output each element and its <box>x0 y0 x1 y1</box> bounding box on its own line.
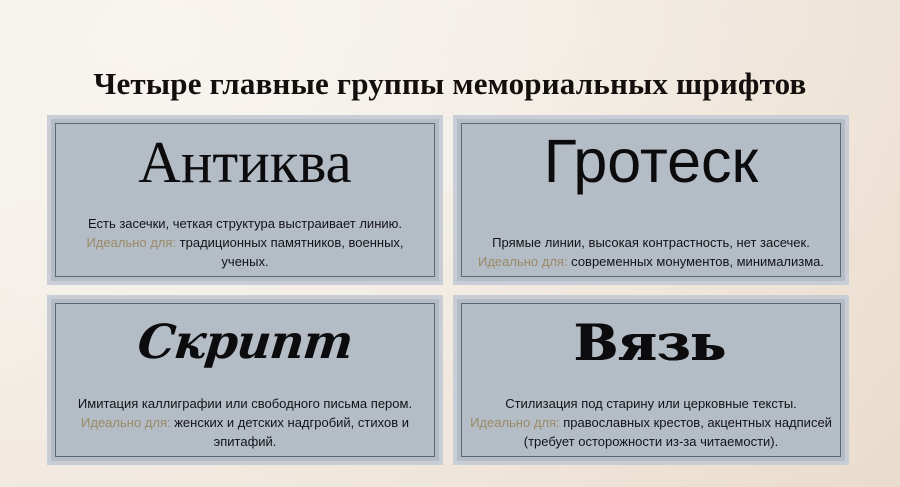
font-sample-antikva: Антиква <box>138 133 351 192</box>
font-group-card-antikva[interactable]: Антиква Есть засечки, четкая структура в… <box>47 115 443 285</box>
card-content: Гротеск Прямые линии, высокая контрастно… <box>463 125 839 275</box>
ideal-for-line: Идеально для: женских и детских надгроби… <box>63 413 427 451</box>
ideal-for-line: Идеально для: современных монументов, ми… <box>469 252 833 271</box>
description-text: Стилизация под старину или церковные тек… <box>469 394 833 413</box>
card-content: Скрипт Имитация каллиграфии или свободно… <box>57 305 433 455</box>
font-group-card-script[interactable]: Скрипт Имитация каллиграфии или свободно… <box>47 295 443 465</box>
card-content: Вязь Стилизация под старину или церковны… <box>463 305 839 455</box>
ideal-for-body: современных монументов, минимализма. <box>568 254 824 269</box>
card-description: Прямые линии, высокая контрастность, нет… <box>469 233 833 271</box>
description-text: Есть засечки, четкая структура выстраива… <box>63 214 427 233</box>
font-sample-vyaz: Вязь <box>575 318 727 368</box>
font-sample-grotesk: Гротеск <box>544 131 758 192</box>
font-group-grid: Антиква Есть засечки, четкая структура в… <box>47 115 849 465</box>
ideal-for-body: женских и детских надгробий, стихов и эп… <box>171 415 409 449</box>
font-group-card-grotesk[interactable]: Гротеск Прямые линии, высокая контрастно… <box>453 115 849 285</box>
ideal-for-label: Идеально для: <box>470 415 560 430</box>
page-title: Четыре главные группы мемориальных шрифт… <box>0 65 900 103</box>
description-text: Имитация каллиграфии или свободного пись… <box>63 394 427 413</box>
ideal-for-label: Идеально для: <box>86 235 176 250</box>
card-description: Имитация каллиграфии или свободного пись… <box>63 394 427 451</box>
ideal-for-line: Идеально для: традиционных памятников, в… <box>63 233 427 271</box>
ideal-for-body: православных крестов, акцентных надписей… <box>524 415 832 449</box>
ideal-for-label: Идеально для: <box>81 415 171 430</box>
description-text: Прямые линии, высокая контрастность, нет… <box>469 233 833 252</box>
ideal-for-label: Идеально для: <box>478 254 568 269</box>
font-sample-script: Скрипт <box>135 319 354 366</box>
font-group-card-vyaz[interactable]: Вязь Стилизация под старину или церковны… <box>453 295 849 465</box>
slide-canvas: Четыре главные группы мемориальных шрифт… <box>0 0 900 487</box>
card-description: Есть засечки, четкая структура выстраива… <box>63 214 427 271</box>
card-content: Антиква Есть засечки, четкая структура в… <box>57 125 433 275</box>
card-description: Стилизация под старину или церковные тек… <box>469 394 833 451</box>
ideal-for-line: Идеально для: православных крестов, акце… <box>469 413 833 451</box>
ideal-for-body: традиционных памятников, военных, ученых… <box>176 235 404 269</box>
